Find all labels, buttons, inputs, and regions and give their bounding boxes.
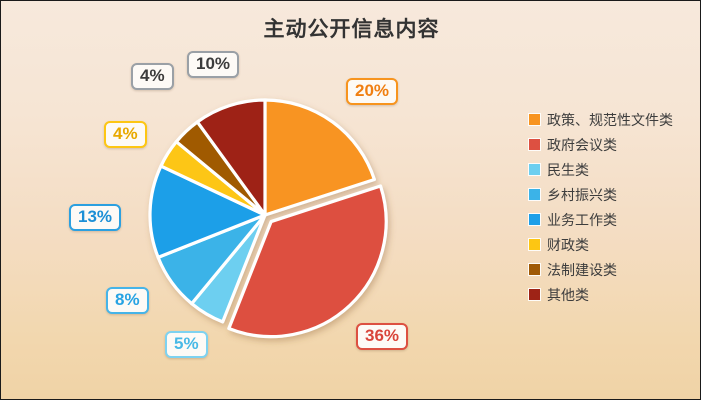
pie-slice-percentage-label: 13% <box>69 204 121 231</box>
chart-legend: 政策、规范性文件类政府会议类民生类乡村振兴类业务工作类财政类法制建设类其他类 <box>529 107 694 307</box>
pie-svg <box>139 89 397 347</box>
legend-swatch-icon <box>529 164 540 175</box>
legend-swatch-icon <box>529 139 540 150</box>
legend-item-label: 乡村振兴类 <box>547 185 617 205</box>
legend-item[interactable]: 财政类 <box>529 232 694 257</box>
legend-item[interactable]: 乡村振兴类 <box>529 182 694 207</box>
legend-swatch-icon <box>529 239 540 250</box>
legend-swatch-icon <box>529 289 540 300</box>
legend-swatch-icon <box>529 114 540 125</box>
pie-slice-percentage-label: 8% <box>106 287 149 314</box>
pie-slice-percentage-label: 36% <box>356 323 408 350</box>
pie-chart <box>139 89 397 347</box>
legend-item-label: 政府会议类 <box>547 135 617 155</box>
chart-canvas: 主动公开信息内容 20%36%5%8%13%4%4%10% 政策、规范性文件类政… <box>0 0 701 400</box>
pie-slice-percentage-label: 10% <box>187 51 239 78</box>
legend-item-label: 财政类 <box>547 235 589 255</box>
legend-swatch-icon <box>529 189 540 200</box>
legend-item[interactable]: 政策、规范性文件类 <box>529 107 694 132</box>
pie-slice-group <box>150 100 386 337</box>
legend-item-label: 业务工作类 <box>547 210 617 230</box>
legend-swatch-icon <box>529 264 540 275</box>
legend-item-label: 其他类 <box>547 285 589 305</box>
legend-swatch-icon <box>529 214 540 225</box>
chart-title: 主动公开信息内容 <box>1 13 701 43</box>
pie-slice-percentage-label: 5% <box>165 331 208 358</box>
legend-item[interactable]: 其他类 <box>529 282 694 307</box>
pie-slice-percentage-label: 4% <box>104 121 147 148</box>
pie-slice-percentage-label: 4% <box>131 63 174 90</box>
legend-item[interactable]: 法制建设类 <box>529 257 694 282</box>
legend-item[interactable]: 业务工作类 <box>529 207 694 232</box>
legend-item-label: 民生类 <box>547 160 589 180</box>
pie-slice-percentage-label: 20% <box>346 78 398 105</box>
legend-item-label: 政策、规范性文件类 <box>547 110 673 130</box>
legend-item[interactable]: 政府会议类 <box>529 132 694 157</box>
legend-item[interactable]: 民生类 <box>529 157 694 182</box>
legend-item-label: 法制建设类 <box>547 260 617 280</box>
